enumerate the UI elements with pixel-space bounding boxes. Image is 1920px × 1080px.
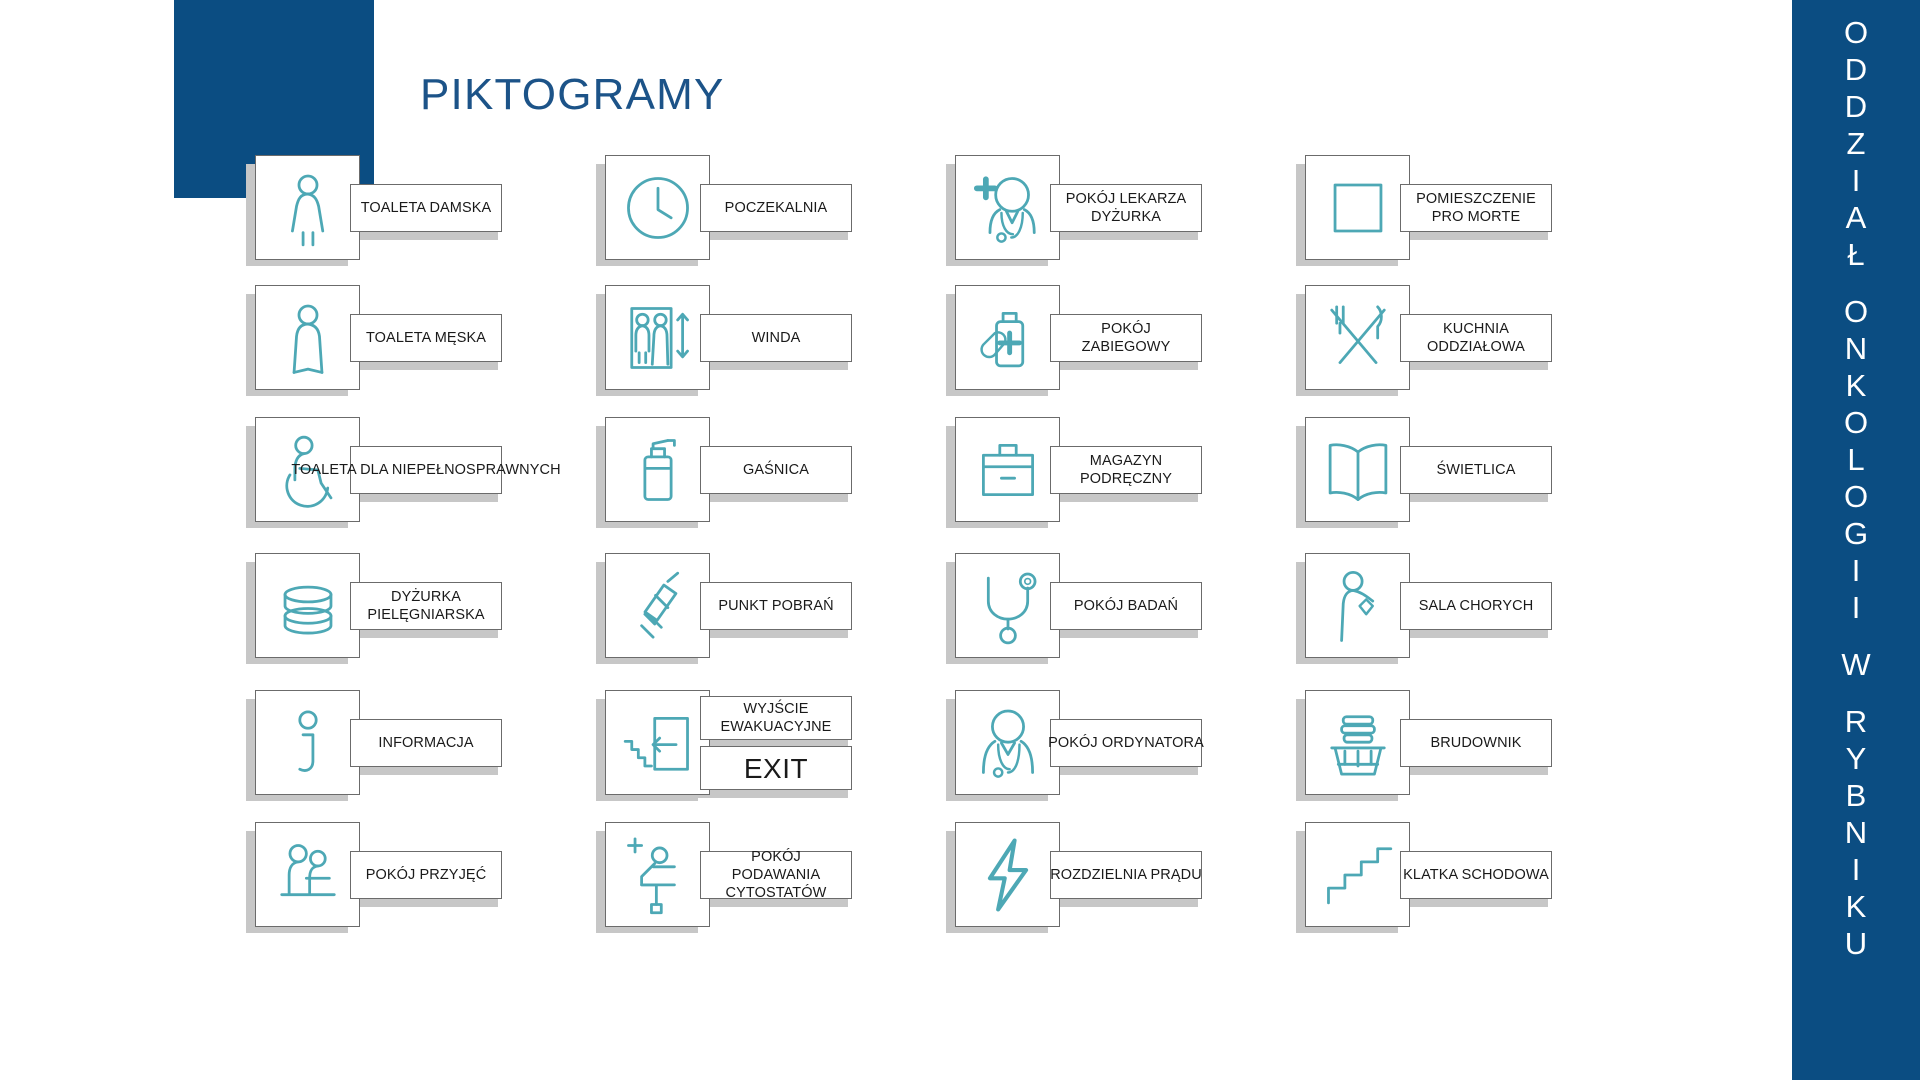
syringe-icon xyxy=(617,565,699,647)
pictogram-label: POCZEKALNIA xyxy=(700,184,852,232)
pictogram-tile[interactable] xyxy=(955,285,1060,390)
pictogram-tile[interactable] xyxy=(1305,822,1410,927)
lightning-icon xyxy=(967,834,1049,916)
pictogram-label: POMIESZCZENIE PRO MORTE xyxy=(1400,184,1552,232)
cutlery-icon xyxy=(1317,297,1399,379)
pictogram-label: TOALETA MĘSKA xyxy=(350,314,502,362)
pictogram-label: POKÓJ ZABIEGOWY xyxy=(1050,314,1202,362)
pictogram-tile[interactable] xyxy=(255,285,360,390)
clock-icon xyxy=(617,167,699,249)
pictogram-tile[interactable] xyxy=(1305,690,1410,795)
pictogram-label: ŚWIETLICA xyxy=(1400,446,1552,494)
reception-icon xyxy=(267,834,349,916)
pictogram-label: ROZDZIELNIA PRĄDU xyxy=(1050,851,1202,899)
pictogram-label: TOALETA DLA NIEPEŁNOSPRAWNYCH xyxy=(350,446,502,494)
pictogram-tile[interactable] xyxy=(605,285,710,390)
woman-icon xyxy=(267,167,349,249)
pictogram-tile[interactable] xyxy=(605,822,710,927)
head-doctor-icon xyxy=(967,702,1049,784)
pictogram-label: POKÓJ PRZYJĘĆ xyxy=(350,851,502,899)
pictogram-label: MAGAZYN PODRĘCZNY xyxy=(1050,446,1202,494)
slide-canvas: PIKTOGRAMY ODDZIAŁONKOLOGIIWRYBNIKU TOAL… xyxy=(0,0,1920,1080)
pictogram-label: POKÓJ BADAŃ xyxy=(1050,582,1202,630)
pictogram-tile[interactable] xyxy=(955,822,1060,927)
stairs-icon xyxy=(1317,834,1399,916)
chemo-chair-icon xyxy=(617,834,699,916)
information-icon xyxy=(267,702,349,784)
pictogram-label: INFORMACJA xyxy=(350,719,502,767)
empty-frame-icon xyxy=(1317,167,1399,249)
pictogram-label: GAŚNICA xyxy=(700,446,852,494)
pictogram-label: KUCHNIA ODDZIAŁOWA xyxy=(1400,314,1552,362)
pictogram-label: TOALETA DAMSKA xyxy=(350,184,502,232)
pictogram-tile[interactable] xyxy=(605,553,710,658)
pictogram-label: POKÓJ ORDYNATORA xyxy=(1050,719,1202,767)
storage-box-icon xyxy=(967,429,1049,511)
pictogram-label: BRUDOWNIK xyxy=(1400,719,1552,767)
pictogram-tile[interactable] xyxy=(605,417,710,522)
pictogram-tile[interactable] xyxy=(955,553,1060,658)
pictogram-label: POKÓJ LEKARZA DYŻURKA xyxy=(1050,184,1202,232)
pictogram-label: EXIT xyxy=(700,746,852,790)
pictogram-tile[interactable] xyxy=(1305,285,1410,390)
patient-icon xyxy=(1317,565,1399,647)
pictogram-tile[interactable] xyxy=(255,553,360,658)
pictogram-label: SALA CHORYCH xyxy=(1400,582,1552,630)
medicine-bottle-icon xyxy=(967,297,1049,379)
pictogram-tile[interactable] xyxy=(1305,553,1410,658)
fire-extinguisher-icon xyxy=(617,429,699,511)
pictogram-tile[interactable] xyxy=(955,155,1060,260)
stethoscope-icon xyxy=(967,565,1049,647)
pictogram-tile[interactable] xyxy=(255,690,360,795)
pictogram-tile[interactable] xyxy=(255,155,360,260)
pictogram-label: DYŻURKA PIELĘGNIARSKA xyxy=(350,582,502,630)
elevator-icon xyxy=(617,297,699,379)
pictogram-tile[interactable] xyxy=(605,155,710,260)
pictogram-label: WINDA xyxy=(700,314,852,362)
pictogram-label: POKÓJ PODAWANIA CYTOSTATÓW xyxy=(700,851,852,899)
pictogram-label: KLATKA SCHODOWA xyxy=(1400,851,1552,899)
laundry-basket-icon xyxy=(1317,702,1399,784)
pictogram-tile[interactable] xyxy=(605,690,710,795)
emergency-exit-icon xyxy=(617,702,699,784)
nurse-desk-icon xyxy=(267,565,349,647)
man-icon xyxy=(267,297,349,379)
book-icon xyxy=(1317,429,1399,511)
pictogram-label: WYJŚCIE EWAKUACYJNE xyxy=(700,696,852,740)
pictogram-label: PUNKT POBRAŃ xyxy=(700,582,852,630)
pictogram-tile[interactable] xyxy=(1305,155,1410,260)
pictogram-tile[interactable] xyxy=(955,690,1060,795)
pictogram-tile[interactable] xyxy=(955,417,1060,522)
pictogram-tile[interactable] xyxy=(1305,417,1410,522)
pictogram-tile[interactable] xyxy=(255,822,360,927)
doctor-icon xyxy=(967,167,1049,249)
pictogram-grid: TOALETA DAMSKATOALETA MĘSKATOALETA DLA N… xyxy=(0,0,1920,1080)
